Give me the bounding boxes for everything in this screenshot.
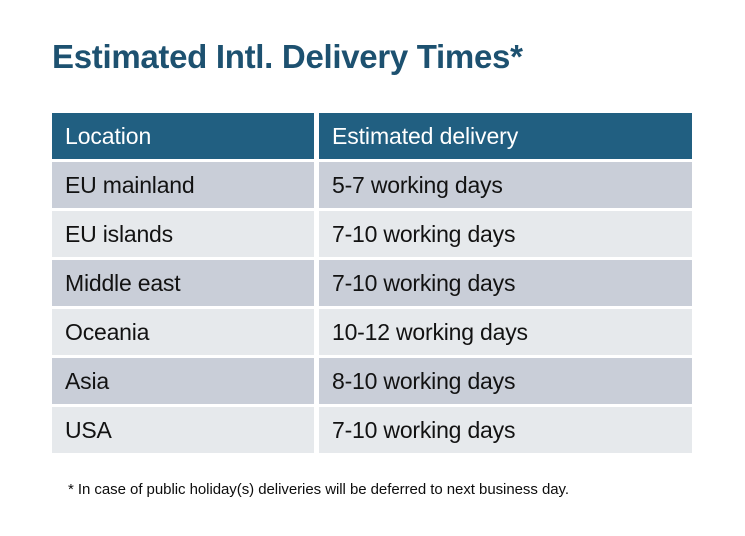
estimated-delivery-table: Location Estimated delivery EU mainland …: [47, 110, 697, 456]
cell-delivery: 7-10 working days: [319, 211, 692, 257]
table-row: Middle east 7-10 working days: [52, 260, 692, 306]
cell-location: Oceania: [52, 309, 314, 355]
cell-location: EU islands: [52, 211, 314, 257]
table-row: EU mainland 5-7 working days: [52, 162, 692, 208]
cell-location: Asia: [52, 358, 314, 404]
cell-delivery: 7-10 working days: [319, 407, 692, 453]
delivery-times-page: Estimated Intl. Delivery Times* Location…: [0, 0, 745, 536]
table-row: USA 7-10 working days: [52, 407, 692, 453]
cell-delivery: 7-10 working days: [319, 260, 692, 306]
table-row: Oceania 10-12 working days: [52, 309, 692, 355]
table-row: Asia 8-10 working days: [52, 358, 692, 404]
table-header: Location Estimated delivery: [52, 113, 692, 159]
page-title: Estimated Intl. Delivery Times*: [52, 36, 523, 78]
column-header-estimated-delivery: Estimated delivery: [319, 113, 692, 159]
footnote-text: * In case of public holiday(s) deliverie…: [68, 481, 569, 498]
cell-delivery: 5-7 working days: [319, 162, 692, 208]
table-row: EU islands 7-10 working days: [52, 211, 692, 257]
column-header-location: Location: [52, 113, 314, 159]
table-header-row: Location Estimated delivery: [52, 113, 692, 159]
cell-delivery: 8-10 working days: [319, 358, 692, 404]
cell-location: USA: [52, 407, 314, 453]
cell-location: Middle east: [52, 260, 314, 306]
cell-location: EU mainland: [52, 162, 314, 208]
table-body: EU mainland 5-7 working days EU islands …: [52, 162, 692, 453]
cell-delivery: 10-12 working days: [319, 309, 692, 355]
